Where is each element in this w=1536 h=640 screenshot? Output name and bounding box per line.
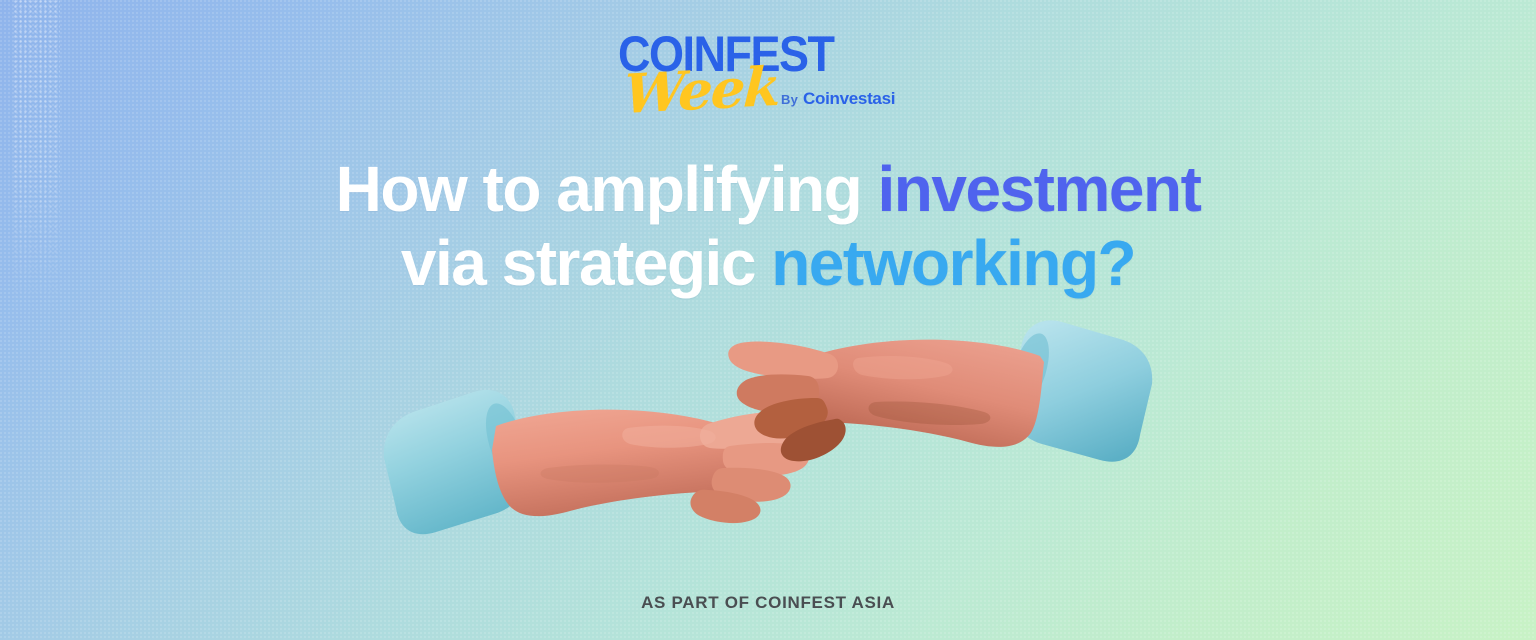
- headline: How to amplifying investment via strateg…: [0, 152, 1536, 300]
- hands-illustration: [378, 318, 1158, 578]
- headline-line-1-white: How to amplifying: [336, 153, 878, 225]
- left-hand: [384, 390, 810, 534]
- headline-line-2: via strategic networking?: [0, 226, 1536, 300]
- promo-banner: COINFEST Week By Coinvestasi How to ampl…: [0, 0, 1536, 640]
- headline-line-2-accent: networking?: [771, 227, 1135, 299]
- right-hand: [728, 320, 1152, 461]
- headline-line-1-accent: investment: [878, 153, 1201, 225]
- coinfest-week-logo[interactable]: COINFEST Week By Coinvestasi: [618, 26, 918, 130]
- headline-line-1: How to amplifying investment: [0, 152, 1536, 226]
- logo-script-word: Week: [623, 58, 781, 122]
- headline-line-2-white: via strategic: [401, 227, 771, 299]
- logo-byline: By Coinvestasi: [781, 89, 895, 109]
- byline-brand-name: Coinvestasi: [803, 89, 895, 109]
- footer-note: AS PART OF COINFEST ASIA: [0, 593, 1536, 613]
- byline-by-label: By: [781, 92, 798, 107]
